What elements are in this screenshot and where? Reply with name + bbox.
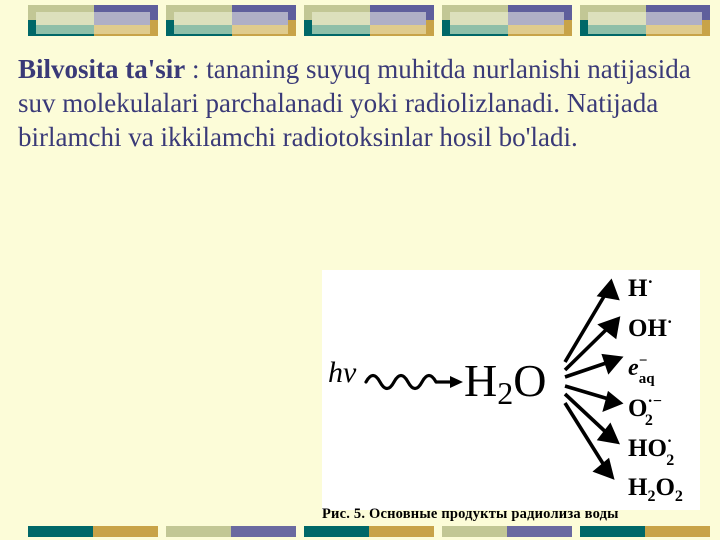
deco-inset-left — [174, 12, 232, 25]
deco-inset-left-lower — [312, 25, 370, 34]
deco-half-purple — [507, 526, 572, 537]
decorative-block-bottom — [28, 526, 158, 537]
deco-inset-right — [370, 12, 426, 25]
deco-inset-right — [232, 12, 288, 25]
deco-inset-right — [94, 12, 150, 25]
deco-inset-left — [588, 12, 646, 25]
product-label-hydroxyl-radical: OH· — [628, 312, 673, 342]
product-label-hydrogen-peroxide: H2O2 — [628, 474, 683, 505]
decorative-block-bottom — [442, 526, 572, 537]
deco-inset-right-lower — [508, 25, 564, 34]
deco-half-teal — [28, 526, 93, 537]
deco-inset-right — [646, 12, 702, 25]
deco-half-teal — [580, 526, 645, 537]
deco-inset-right-lower — [370, 25, 426, 34]
deco-inset-left-lower — [36, 25, 94, 34]
deco-inset-right-lower — [94, 25, 150, 34]
radiolysis-diagram: hv H2O — [322, 270, 700, 510]
deco-half-sage — [166, 526, 231, 537]
lead-separator: : — [185, 54, 206, 84]
deco-inset-right-lower — [232, 25, 288, 34]
deco-half-teal — [304, 526, 369, 537]
deco-half-gold — [369, 526, 434, 537]
bottom-decorative-strip — [0, 522, 720, 540]
deco-half-sage — [442, 526, 507, 537]
excitation-label: hv — [328, 356, 357, 389]
lead-term: Bilvosita ta'sir — [18, 54, 185, 84]
decorative-block — [304, 5, 434, 36]
top-decorative-strip — [0, 0, 720, 42]
decorative-block-bottom — [166, 526, 296, 537]
decorative-block — [28, 5, 158, 36]
deco-half-purple — [231, 526, 296, 537]
decorative-block — [580, 5, 710, 36]
deco-inset-left-lower — [174, 25, 232, 34]
radiolysis-figure-panel: hv H2O — [322, 270, 700, 510]
deco-inset-left — [36, 12, 94, 25]
figure-caption: Рис. 5. Основные продукты радиолиза воды — [322, 506, 700, 523]
deco-inset-left-lower — [450, 25, 508, 34]
deco-half-gold — [93, 526, 158, 537]
slide-body-text: Bilvosita ta'sir : tananing suyuq muhitd… — [18, 52, 704, 154]
deco-inset-left — [450, 12, 508, 25]
deco-half-gold — [645, 526, 710, 537]
slide-root: Bilvosita ta'sir : tananing suyuq muhitd… — [0, 0, 720, 540]
deco-inset-left-lower — [588, 25, 646, 34]
deco-inset-left — [312, 12, 370, 25]
deco-inset-right-lower — [646, 25, 702, 34]
decorative-block — [166, 5, 296, 36]
decorative-block-bottom — [304, 526, 434, 537]
deco-inset-right — [508, 12, 564, 25]
decorative-block — [442, 5, 572, 36]
decorative-block-bottom — [580, 526, 710, 537]
